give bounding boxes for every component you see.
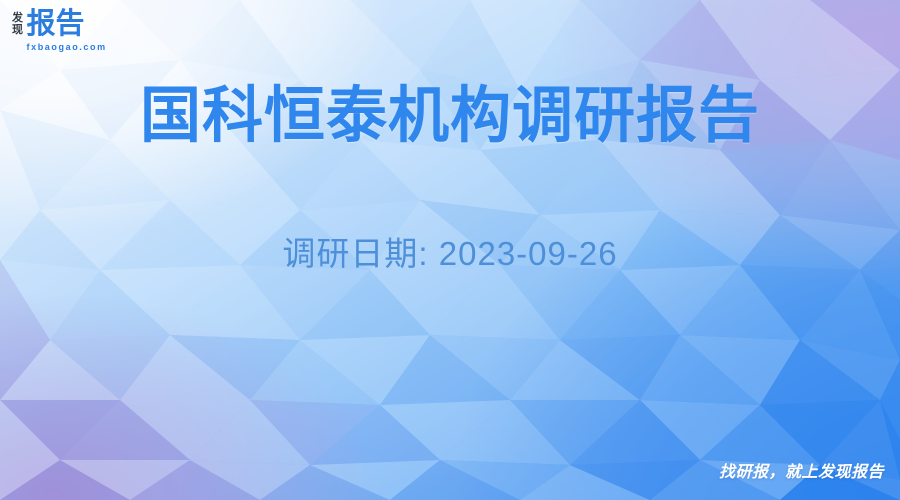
logo-stacked-characters: 发 现 <box>12 10 23 36</box>
site-logo[interactable]: 发 现 报告 fxbaogao.com <box>12 10 107 52</box>
logo-main-text: 报告 <box>27 10 107 39</box>
logo-char-fa: 发 <box>12 13 23 25</box>
logo-url-text: fxbaogao.com <box>27 42 107 52</box>
logo-wordmark: 报告 fxbaogao.com <box>27 10 107 52</box>
report-cover-slide: 发 现 报告 fxbaogao.com 国科恒泰机构调研报告 调研日期: 202… <box>0 0 900 500</box>
logo-char-xian: 现 <box>12 25 23 37</box>
cover-subtitle-date: 调研日期: 2023-09-26 <box>0 234 900 274</box>
page-title: 国科恒泰机构调研报告 <box>0 78 900 152</box>
cover-text-block: 国科恒泰机构调研报告 调研日期: 2023-09-26 <box>0 78 900 274</box>
footer-tagline: 找研报，就上发现报告 <box>719 463 884 483</box>
